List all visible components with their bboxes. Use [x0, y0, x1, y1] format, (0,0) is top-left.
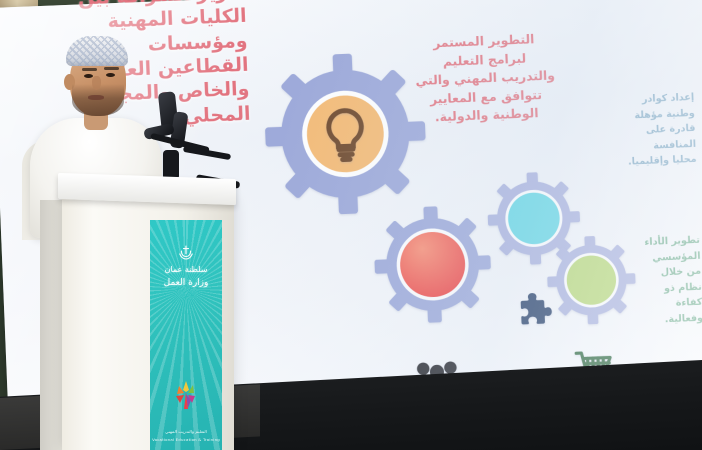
kuma-pattern: [66, 36, 128, 66]
banner-country: سلطنة عمان: [150, 264, 222, 276]
speaker-brow: [82, 68, 97, 71]
mic-base: [163, 150, 179, 180]
podium-side: [40, 200, 64, 450]
vet-logo-caption: التعليم والتدريب المهني Vocational Educa…: [150, 430, 222, 443]
banner-country-line: سلطنة عمان وزارة العمل: [150, 264, 222, 291]
vet-logo: [150, 378, 222, 416]
speaker-eye: [106, 73, 115, 77]
photo-scene: تعزيز الشراكة بين الكليات المهنية ومؤسسا…: [0, 0, 702, 450]
vet-caption-ar: التعليم والتدريب المهني: [150, 430, 222, 437]
speaker-brow: [104, 67, 119, 70]
omani-kuma-cap: [66, 36, 128, 66]
speaker-nose: [92, 76, 101, 90]
vet-caption-en: Vocational Education & Training: [150, 437, 222, 443]
speaker-eye: [84, 74, 93, 78]
speaker-mouth: [88, 95, 104, 100]
banner-ministry: وزارة العمل: [150, 277, 222, 291]
podium-banner: سلطنة عمان وزارة العمل التعليم والتدريب …: [150, 220, 222, 450]
